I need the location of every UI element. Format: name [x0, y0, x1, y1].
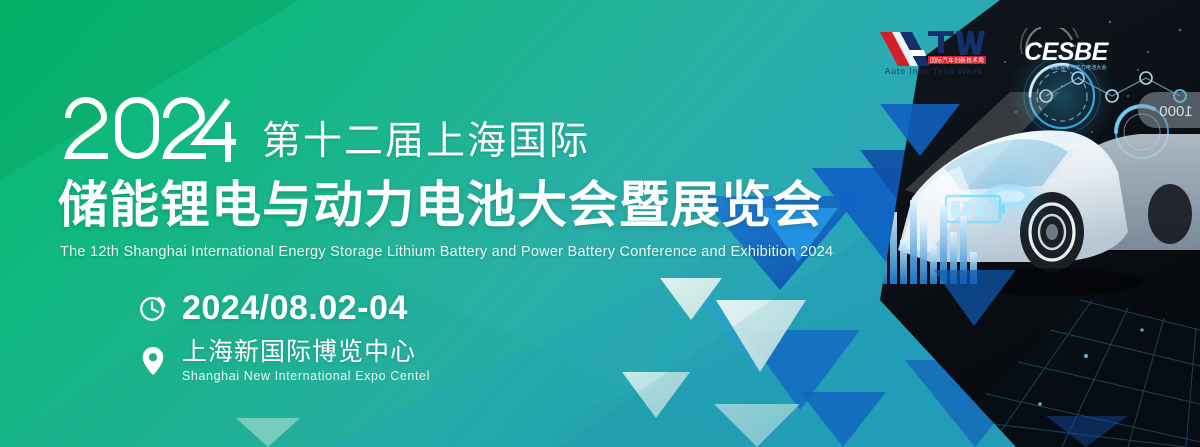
edition-title: 第十二届上海国际 [262, 122, 590, 161]
aitw-cn-strip: 国际汽车创新技术周 [930, 57, 984, 65]
aitw-logo[interactable]: 国际汽车创新技术周 Auto Inno Tech Week [878, 26, 990, 76]
year-2024-logo [62, 94, 240, 166]
banner-content: 第十二届上海国际 储能锂电与动力电池大会暨展览会 The 12th Shangh… [0, 0, 900, 447]
location-pin-icon [140, 346, 166, 376]
venue-name-cn: 上海新国际博览中心 [182, 339, 430, 365]
partner-logos: 国际汽车创新技术周 Auto Inno Tech Week CESBE 储能锂电… [878, 26, 1116, 76]
clock-icon [138, 293, 168, 323]
conference-banner: 1000 [0, 0, 1200, 447]
cesbe-cn-strip: 储能锂电与动力电池大会 [1049, 63, 1106, 71]
venue-name-en: Shanghai New International Expo Centel [182, 370, 430, 383]
cesbe-logo[interactable]: CESBE 储能锂电与动力电池大会 [1016, 28, 1116, 74]
date-row: 2024/08.02-04 [138, 291, 430, 325]
venue-text: 上海新国际博览中心 Shanghai New International Exp… [182, 339, 430, 383]
event-info: 2024/08.02-04 上海新国际博览中心 Shanghai New Int… [138, 291, 430, 383]
english-subtitle: The 12th Shanghai International Energy S… [60, 245, 833, 260]
venue-row: 上海新国际博览中心 Shanghai New International Exp… [138, 339, 430, 383]
cesbe-wordmark: CESBE [1024, 38, 1109, 66]
title-top-row: 第十二届上海国际 [62, 94, 590, 166]
main-headline: 储能锂电与动力电池大会暨展览会 [58, 180, 823, 230]
gauge-label: 1000 [1159, 103, 1192, 120]
aitw-tagline: Auto Inno Tech Week [885, 67, 983, 76]
event-date: 2024/08.02-04 [182, 291, 408, 325]
